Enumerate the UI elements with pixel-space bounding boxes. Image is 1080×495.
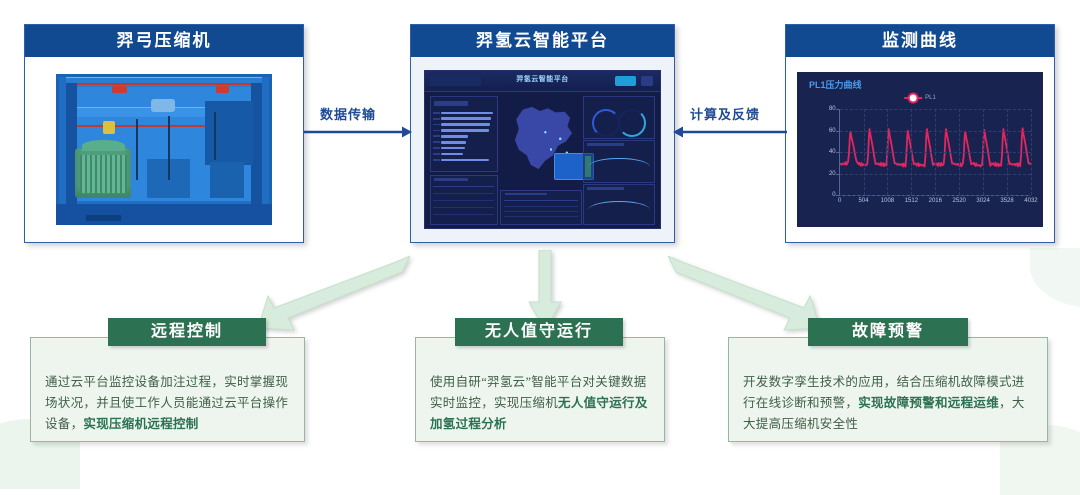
dashboard-menu-icon[interactable]	[641, 76, 653, 85]
pressure-chart[interactable]: PL1压力曲线 PL1 0204060800504100815122016252…	[797, 72, 1044, 227]
chart-ytick: 0	[832, 192, 835, 198]
arrow-data-transmission-icon	[304, 125, 412, 139]
dashboard-status-table	[430, 175, 498, 226]
card-fault-warning[interactable]: 开发数字孪生技术的应用，结合压缩机故障模式进行在线诊断和预警，实现故障预警和远程…	[728, 337, 1048, 442]
chart-xtick: 0	[838, 198, 841, 204]
chart-title: PL1压力曲线	[809, 78, 862, 91]
chart-gridline-v	[935, 109, 936, 195]
chart-gridline-v	[983, 109, 984, 195]
panel-cloud-platform-body: 羿氢云智能平台	[411, 57, 674, 242]
panel-compressor-body	[25, 57, 303, 242]
arrow-label-calculation-feedback: 计算及反馈	[690, 104, 760, 123]
chart-plot-area: 0204060800504100815122016252030243528403…	[839, 109, 1031, 196]
panel-monitoring-curve-body: PL1压力曲线 PL1 0204060800504100815122016252…	[786, 57, 1054, 242]
chart-gridline-v	[911, 109, 912, 195]
card-unattended-operation-title: 无人值守运行	[455, 318, 623, 346]
chart-legend[interactable]: PL1	[904, 95, 936, 101]
gauge-left	[592, 109, 620, 137]
card-fault-warning-text-1: 实现故障预警和远程运维	[858, 396, 999, 410]
chart-gridline-v	[864, 109, 865, 195]
arrow-to-remote-control-icon	[250, 250, 410, 332]
chart-gridline-v	[959, 109, 960, 195]
dashboard-screenshot: 羿氢云智能平台	[424, 70, 661, 229]
dashboard-gauges	[583, 96, 655, 139]
dashboard-line-chart-1	[583, 140, 655, 183]
gauge-right	[618, 109, 646, 137]
card-remote-control-title: 远程控制	[108, 318, 266, 346]
arrow-label-data-transmission: 数据传输	[320, 104, 376, 123]
watermark-top-right	[1030, 248, 1080, 308]
chart-xtick: 2520	[953, 198, 966, 204]
compressor-photo	[25, 57, 303, 242]
chart-xtick: 1512	[905, 198, 918, 204]
panel-monitoring-curve-title: 监测曲线	[786, 25, 1054, 57]
chart-gridline-h	[840, 195, 1031, 196]
chart-xtick: 3024	[976, 198, 989, 204]
card-fault-warning-title: 故障预警	[808, 318, 968, 346]
chart-ytick: 80	[829, 106, 836, 112]
arrow-to-fault-warning-icon	[668, 250, 828, 332]
dashboard-bar-chart	[430, 96, 498, 172]
panel-compressor-title: 羿弓压缩机	[25, 25, 303, 57]
panel-monitoring-curve[interactable]: 监测曲线 PL1压力曲线 PL1 02040608005041008151220…	[785, 24, 1055, 243]
card-remote-control-text-1: 实现压缩机远程控制	[83, 417, 198, 431]
chart-ytick: 60	[829, 128, 836, 134]
chart-xtick: 2016	[929, 198, 942, 204]
card-fault-warning-text: 开发数字孪生技术的应用，结合压缩机故障模式进行在线诊断和预警，实现故障预警和远程…	[743, 372, 1035, 435]
chart-ytick: 40	[829, 149, 836, 155]
legend-marker-icon	[904, 97, 922, 99]
panel-cloud-platform[interactable]: 羿氢云智能平台 羿氢云智能平台	[410, 24, 675, 243]
card-remote-control-text: 通过云平台监控设备加注过程，实时掌握现场状况，并且使工作人员能通过云平台操作设备…	[45, 372, 292, 435]
chart-xtick: 3528	[1000, 198, 1013, 204]
chart-xtick: 4032	[1024, 198, 1037, 204]
panel-compressor[interactable]: 羿弓压缩机	[24, 24, 304, 243]
card-remote-control[interactable]: 通过云平台监控设备加注过程，实时掌握现场状况，并且使工作人员能通过云平台操作设备…	[30, 337, 305, 442]
chart-ytick: 20	[829, 171, 836, 177]
arrow-calculation-feedback-icon	[673, 125, 787, 139]
chart-xtick: 1008	[881, 198, 894, 204]
panel-cloud-platform-title: 羿氢云智能平台	[411, 25, 674, 57]
legend-label: PL1	[925, 95, 936, 101]
chart-gridline-v	[1007, 109, 1008, 195]
slide-canvas: 羿弓压缩机	[0, 0, 1080, 459]
dashboard-line-chart-2	[583, 184, 655, 225]
dashboard-action-button[interactable]	[615, 76, 636, 85]
chart-gridline-v	[887, 109, 888, 195]
dashboard-record-table	[500, 190, 582, 225]
chart-xtick: 504	[859, 198, 869, 204]
card-unattended-operation-text: 使用自研“羿氢云”智能平台对关键数据实时监控，实现压缩机无人值守运行及加氢过程分…	[430, 372, 652, 435]
card-unattended-operation[interactable]: 使用自研“羿氢云”智能平台对关键数据实时监控，实现压缩机无人值守运行及加氢过程分…	[415, 337, 665, 442]
chart-gridline-v	[1031, 109, 1032, 195]
